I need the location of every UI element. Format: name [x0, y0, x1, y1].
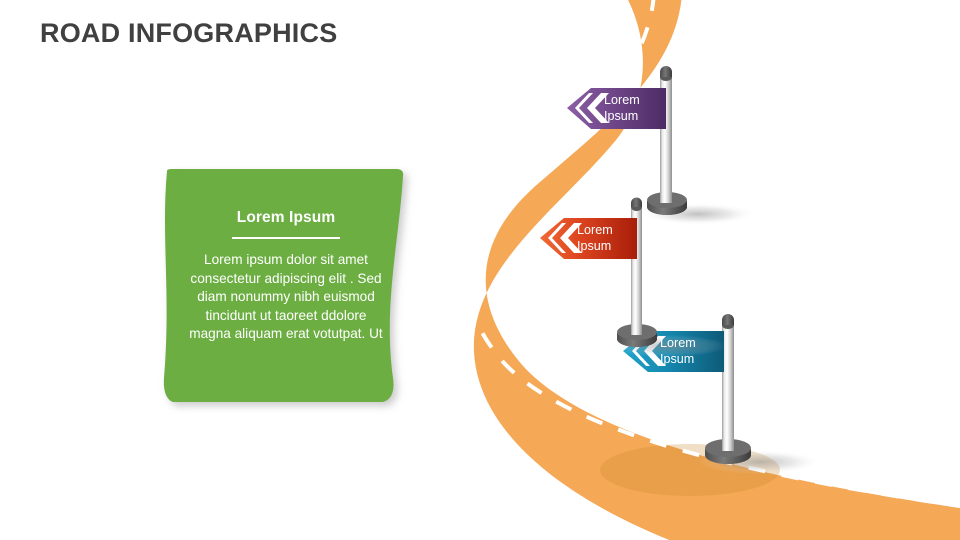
content-card-divider [232, 237, 340, 239]
signpost-red-board [540, 218, 637, 259]
road-illustration [0, 0, 960, 540]
content-card-heading: Lorem Ipsum [185, 208, 387, 228]
content-card-body: Lorem ipsum dolor sit amet consectetur a… [185, 251, 387, 344]
content-card-text: Lorem Ipsum Lorem ipsum dolor sit amet c… [185, 208, 387, 344]
content-card[interactable]: Lorem Ipsum Lorem ipsum dolor sit amet c… [155, 166, 417, 414]
slide-canvas: ROAD INFOGRAPHICS [0, 0, 960, 540]
